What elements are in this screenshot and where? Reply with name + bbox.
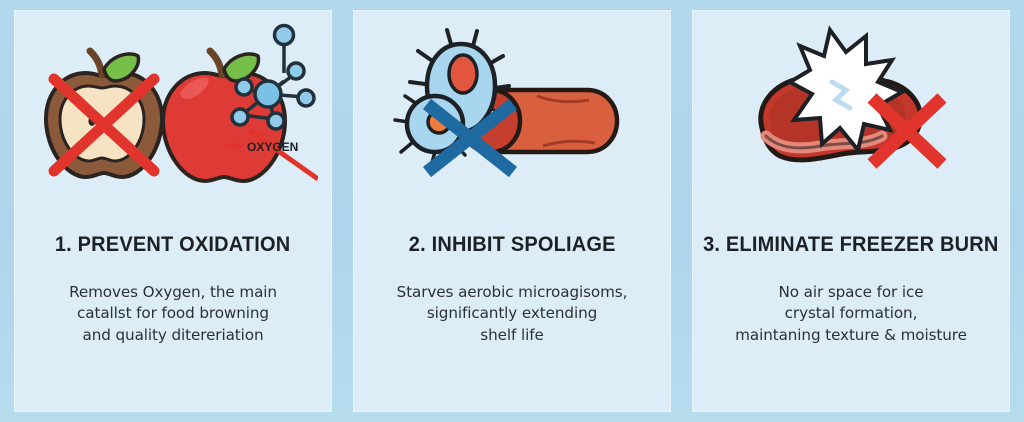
oxidation-illustration: OXYGEN xyxy=(14,10,332,208)
body-line: Removes Oxygen, the main xyxy=(28,282,318,304)
card-eliminate-freezer-burn: 3. ELIMINATE FREEZER BURN No air space f… xyxy=(692,10,1010,412)
card-prevent-oxidation: OXYGEN 1. PREVENT OXIDATION Removes Oxyg… xyxy=(14,10,332,412)
body-line: catallst for food browning xyxy=(28,303,318,325)
card-heading: 2. INHIBIT SPOLIAGE xyxy=(409,234,616,256)
body-line: maintaning texture & moisture xyxy=(706,325,996,347)
body-line: shelf life xyxy=(367,325,657,347)
body-line: Starves aerobic microagisoms, xyxy=(367,282,657,304)
spoilage-illustration xyxy=(353,10,671,208)
oxygen-label: OXYGEN xyxy=(247,140,298,154)
spoilage-artwork xyxy=(387,24,637,194)
infographic-board: OXYGEN 1. PREVENT OXIDATION Removes Oxyg… xyxy=(0,0,1024,422)
card-heading: 1. PREVENT OXIDATION xyxy=(55,234,291,256)
card-body: Starves aerobic microagisoms, significan… xyxy=(367,282,657,347)
body-line: significantly extending xyxy=(367,303,657,325)
card-body: No air space for ice crystal formation, … xyxy=(706,282,996,347)
oxidation-artwork: OXYGEN xyxy=(28,19,318,199)
card-body: Removes Oxygen, the main catallst for fo… xyxy=(28,282,318,347)
freezer-burn-illustration xyxy=(692,10,1010,208)
fresh-red-apple-icon xyxy=(163,51,285,181)
card-inhibit-spoilage: 2. INHIBIT SPOLIAGE Starves aerobic micr… xyxy=(353,10,671,412)
body-line: and quality ditereriation xyxy=(28,325,318,347)
card-heading: 3. ELIMINATE FREEZER BURN xyxy=(703,234,998,256)
freezer-burn-artwork xyxy=(726,24,976,194)
body-line: No air space for ice xyxy=(706,282,996,304)
body-line: crystal formation, xyxy=(706,303,996,325)
